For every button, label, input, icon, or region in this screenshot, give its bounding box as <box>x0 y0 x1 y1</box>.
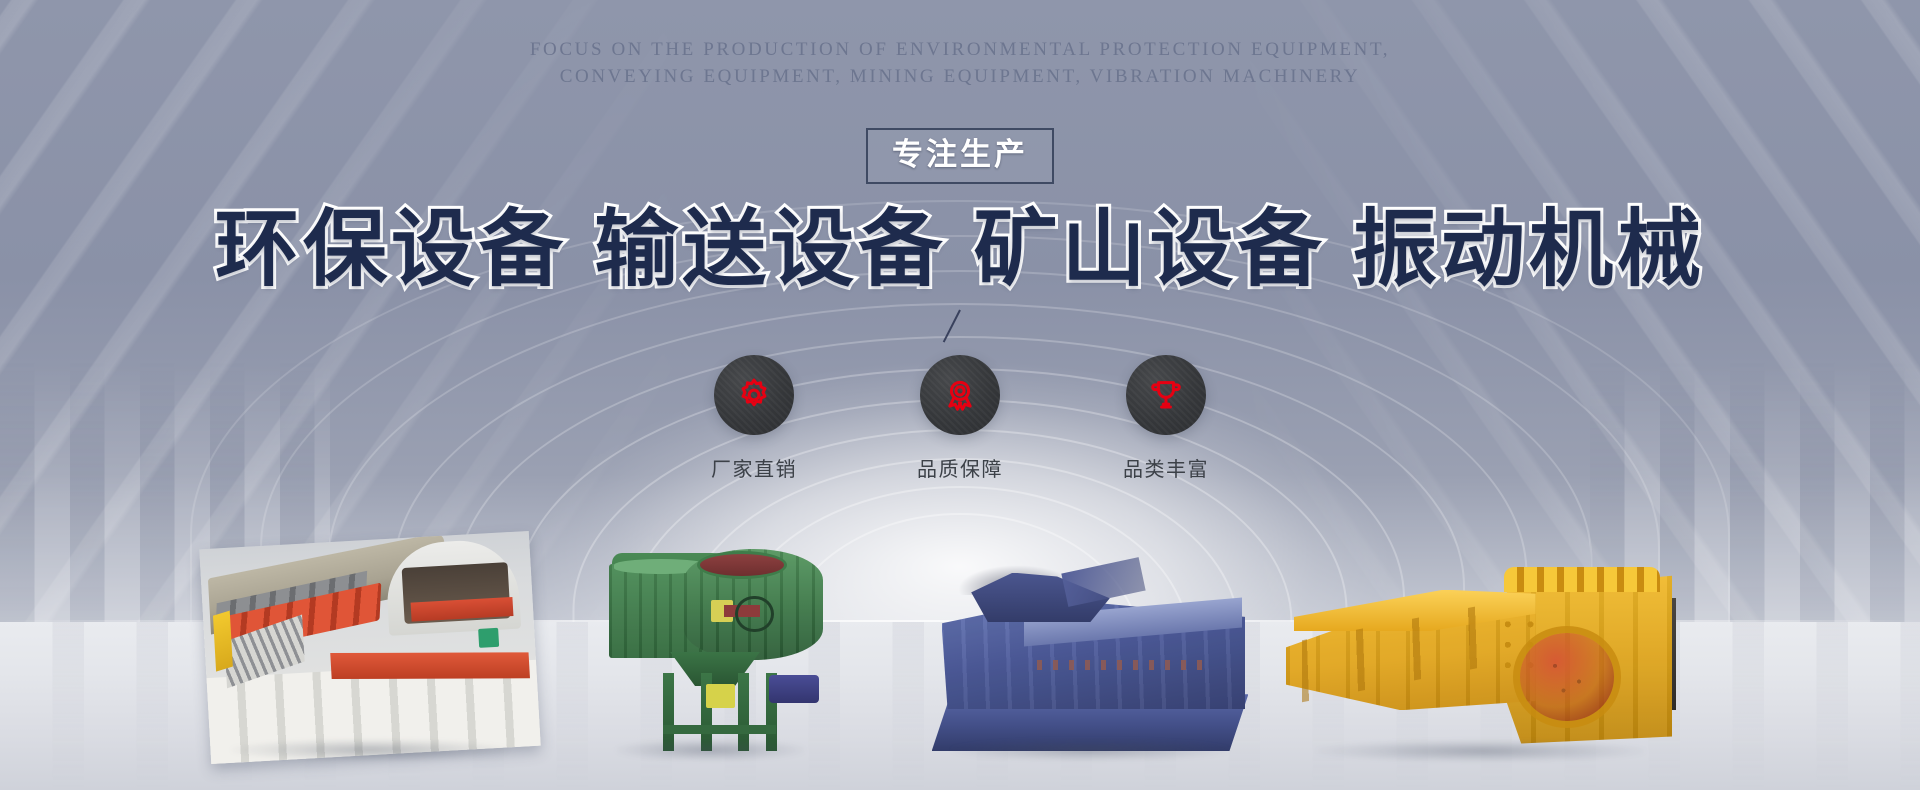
feature-label: 品类丰富 <box>1091 453 1241 482</box>
decorative-slash <box>943 310 961 343</box>
promo-banner: FOCUS ON THE PRODUCTION OF ENVIRONMENTAL… <box>0 0 1920 790</box>
feature-icon-circle <box>920 355 1000 435</box>
trophy-icon <box>1147 376 1185 414</box>
feature-label: 厂家直销 <box>679 453 829 482</box>
focus-production-badge: 专注生产 <box>866 128 1054 184</box>
feature-item-rich-categories[interactable]: 品类丰富 <box>1091 355 1241 482</box>
feature-icon-circle <box>714 355 794 435</box>
eyebrow-tagline: FOCUS ON THE PRODUCTION OF ENVIRONMENTAL… <box>0 36 1920 90</box>
medal-icon <box>941 376 979 414</box>
feature-item-quality-guarantee[interactable]: 品质保障 <box>885 355 1035 482</box>
gear-icon <box>735 376 773 414</box>
page-title: 环保设备 输送设备 矿山设备 振动机械 <box>0 207 1920 291</box>
feature-icon-circle <box>1126 355 1206 435</box>
feature-item-factory-direct[interactable]: 厂家直销 <box>679 355 829 482</box>
feature-label: 品质保障 <box>885 453 1035 482</box>
feature-list: 厂家直销 品质保障 <box>679 355 1241 482</box>
